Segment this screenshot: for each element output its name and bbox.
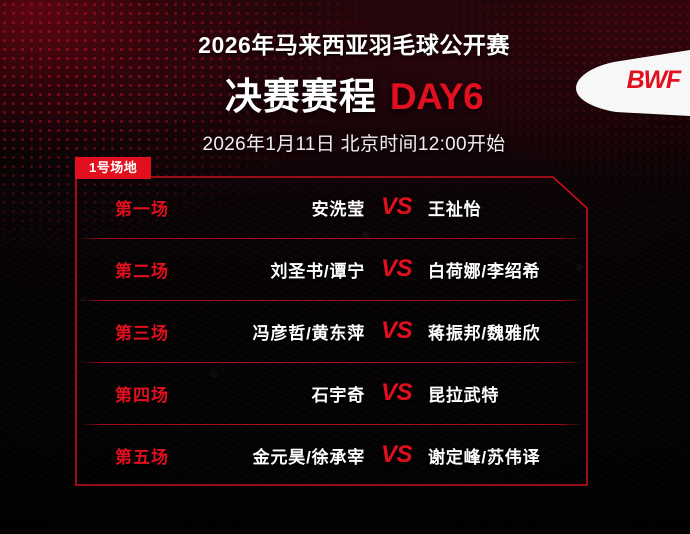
match-pairing: 冯彦哲/黄东萍 VS 蒋振邦/魏雅欣: [227, 319, 566, 344]
player-right: 王祉怡: [412, 195, 566, 220]
player-right: 谢定峰/苏伟译: [412, 443, 566, 468]
match-pairing: 石宇奇 VS 昆拉武特: [227, 381, 566, 406]
match-number: 第一场: [115, 195, 227, 220]
match-row[interactable]: 第二场 刘圣书/谭宁 VS 白荷娜/李绍希: [75, 238, 588, 300]
match-row[interactable]: 第三场 冯彦哲/黄东萍 VS 蒋振邦/魏雅欣: [75, 300, 588, 362]
player-left: 安洗莹: [227, 195, 381, 220]
event-title: 2026年马来西亚羽毛球公开赛: [0, 26, 690, 60]
match-number: 第二场: [115, 257, 227, 282]
match-number: 第四场: [115, 381, 227, 406]
player-left: 冯彦哲/黄东萍: [227, 319, 381, 344]
player-right: 白荷娜/李绍希: [412, 257, 566, 282]
match-row[interactable]: 第一场 安洗莹 VS 王祉怡: [75, 176, 588, 238]
headline-day: DAY6: [390, 76, 483, 118]
match-pairing: 刘圣书/谭宁 VS 白荷娜/李绍希: [227, 257, 566, 282]
match-row[interactable]: 第四场 石宇奇 VS 昆拉武特: [75, 362, 588, 424]
match-pairing: 金元昊/徐承宰 VS 谢定峰/苏伟译: [227, 443, 566, 468]
match-list: 第一场 安洗莹 VS 王祉怡 第二场 刘圣书/谭宁 VS 白荷娜/李绍希 第三场…: [75, 176, 588, 486]
vs-label: VS: [381, 443, 412, 467]
header: 2026年马来西亚羽毛球公开赛 决赛赛程 DAY6 2026年1月11日 北京时…: [0, 0, 690, 156]
player-left: 刘圣书/谭宁: [227, 257, 381, 282]
match-pairing: 安洗莹 VS 王祉怡: [227, 195, 566, 220]
vs-label: VS: [381, 195, 412, 219]
headline-row: 决赛赛程 DAY6: [0, 66, 690, 120]
player-right: 昆拉武特: [412, 381, 566, 406]
player-right: 蒋振邦/魏雅欣: [412, 319, 566, 344]
headline-main: 决赛赛程: [225, 66, 377, 120]
player-left: 石宇奇: [227, 381, 381, 406]
vs-label: VS: [381, 381, 412, 405]
court-badge: 1号场地: [75, 157, 151, 179]
match-number: 第三场: [115, 319, 227, 344]
schedule-panel: 第一场 安洗莹 VS 王祉怡 第二场 刘圣书/谭宁 VS 白荷娜/李绍希 第三场…: [75, 176, 588, 486]
match-number: 第五场: [115, 443, 227, 468]
event-datetime: 2026年1月11日 北京时间12:00开始: [0, 129, 690, 156]
player-left: 金元昊/徐承宰: [227, 443, 381, 468]
vs-label: VS: [381, 319, 412, 343]
vs-label: VS: [381, 257, 412, 281]
match-row[interactable]: 第五场 金元昊/徐承宰 VS 谢定峰/苏伟译: [75, 424, 588, 486]
